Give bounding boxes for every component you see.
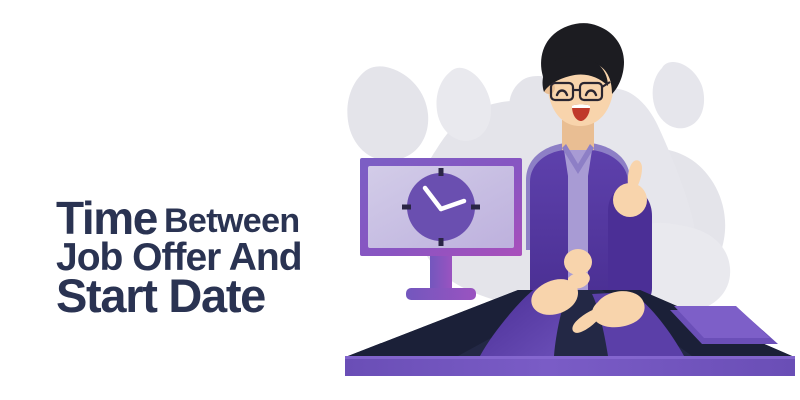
illustration-man-at-desk <box>340 0 800 400</box>
background-blob-top-mid1 <box>437 68 492 141</box>
clock-tick-9 <box>402 205 411 210</box>
clock-tick-3 <box>471 205 480 210</box>
background-blob-top-right <box>653 62 704 128</box>
person-figure <box>526 23 652 310</box>
person-mouth-teeth <box>572 105 590 109</box>
banner-root: TimeBetween Job Offer And Start Date <box>0 0 800 400</box>
desk-front-edge-highlight <box>345 356 795 359</box>
illustration-svg <box>340 0 800 400</box>
clock-tick-6 <box>439 238 444 246</box>
desk <box>345 272 795 376</box>
person-fist <box>613 183 647 217</box>
person-jacket-button <box>564 249 592 275</box>
monitor-stand-base <box>406 288 476 300</box>
clock-tick-12 <box>439 168 444 176</box>
headline-word-between: Between <box>164 202 300 240</box>
background-blob-top-left <box>347 66 428 160</box>
